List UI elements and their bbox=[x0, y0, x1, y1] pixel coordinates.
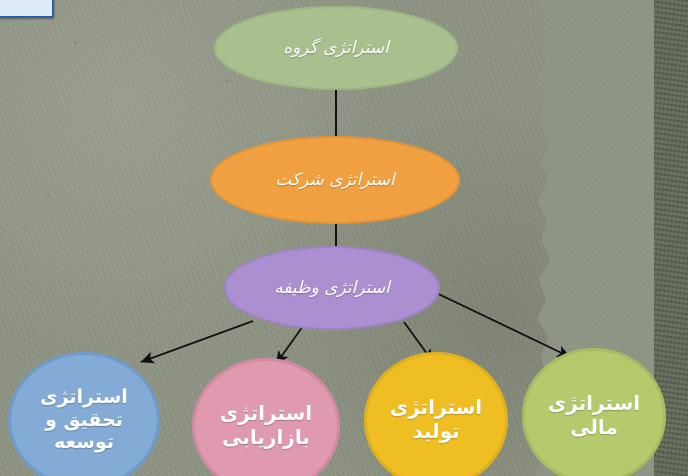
node-production-strategy[interactable]: استراتژی تولید bbox=[364, 352, 508, 476]
node-group-strategy[interactable]: استراتژی گروه bbox=[214, 6, 458, 90]
node-corporate-strategy[interactable]: استراتژی شرکت bbox=[210, 136, 460, 224]
node-functional-strategy[interactable]: استراتژی وظیفه bbox=[224, 246, 440, 330]
node-marketing-strategy-label: استراتژی بازاریابی bbox=[214, 402, 318, 449]
node-corporate-strategy-label: استراتژی شرکت bbox=[269, 170, 400, 190]
node-rnd-strategy[interactable]: استراتژی تحقیق و توسعه bbox=[8, 352, 160, 476]
node-financial-strategy-label: استراتژی مالی bbox=[542, 392, 646, 439]
node-rnd-strategy-label: استراتژی تحقیق و توسعه bbox=[34, 386, 134, 453]
node-functional-strategy-label: استراتژی وظیفه bbox=[268, 278, 396, 298]
node-financial-strategy[interactable]: استراتژی مالی bbox=[522, 348, 666, 476]
top-left-placeholder-box[interactable] bbox=[0, 0, 54, 18]
node-production-strategy-label: استراتژی تولید bbox=[384, 396, 488, 443]
node-group-strategy-label: استراتژی گروه bbox=[277, 38, 395, 58]
slide-canvas: استراتژی گروه استراتژی شرکت استراتژی وظی… bbox=[0, 0, 688, 476]
